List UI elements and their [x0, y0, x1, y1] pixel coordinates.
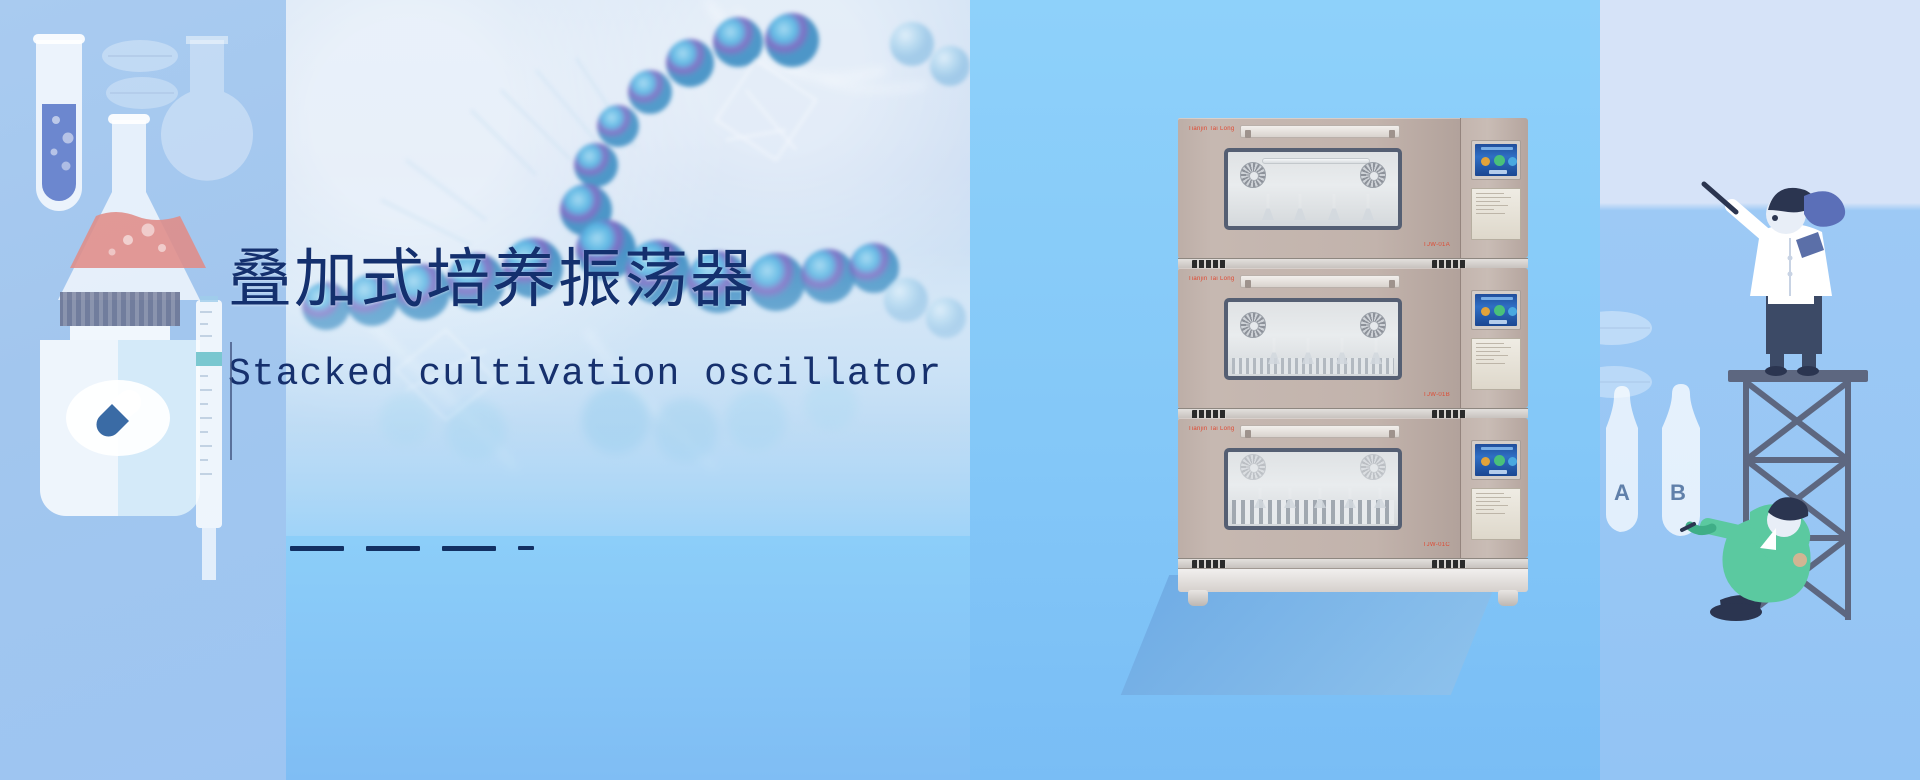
unit-body: Tianjin Tai Long TJW-01C [1178, 418, 1460, 558]
brand-label: Tianjin Tai Long [1188, 426, 1235, 432]
banner-title-block: 叠加式培养振荡器 Stacked cultivation oscillator [228, 246, 988, 396]
fan-icon [1240, 162, 1266, 188]
ampoule-a-icon: A [1606, 386, 1638, 532]
title-divider [230, 342, 232, 460]
shaker-unit-2[interactable]: Tianjin Tai Long TJW-01B [1178, 268, 1528, 416]
interior-light [1262, 158, 1370, 164]
spec-label [1471, 188, 1521, 240]
flask-icon [1344, 488, 1356, 508]
door-handle[interactable] [1240, 425, 1400, 438]
flask-clamp-row [1232, 358, 1394, 374]
fan-icon [1240, 312, 1266, 338]
flask-icon [1254, 488, 1266, 508]
shaker-unit-3[interactable]: Tianjin Tai Long TJW-01C [1178, 418, 1528, 566]
scientists-scaffold-illustration: A B [1600, 0, 1920, 780]
dash-mark [290, 546, 344, 551]
flask-icon [1284, 488, 1296, 508]
syringe-icon [196, 296, 222, 580]
leveling-foot [1188, 590, 1208, 606]
banner-stage: A B [0, 0, 1920, 780]
spec-label [1471, 488, 1521, 540]
model-label: TJW-01A [1423, 242, 1450, 248]
ampoule-label-a: A [1614, 480, 1630, 505]
door-handle[interactable] [1240, 275, 1400, 288]
brand-label: Tianjin Tai Long [1188, 276, 1235, 282]
flask-icon [1362, 194, 1374, 220]
page-subtitle: Stacked cultivation oscillator [228, 353, 988, 396]
door-handle[interactable] [1240, 125, 1400, 138]
flask-icon [1336, 338, 1348, 364]
viewing-window [1224, 148, 1402, 230]
medicine-bottle-icon [40, 292, 200, 516]
fan-icon [1360, 162, 1386, 188]
control-column [1460, 268, 1528, 408]
dash-mark [442, 546, 496, 551]
dash-mark [366, 546, 420, 551]
control-column [1460, 118, 1528, 258]
ampoule-label-b: B [1670, 480, 1686, 505]
touchscreen-display[interactable] [1471, 290, 1521, 330]
fan-icon [1360, 454, 1386, 480]
viewing-window [1224, 298, 1402, 380]
unit-body: Tianjin Tai Long TJW-01B [1178, 268, 1460, 408]
flask-icon [1374, 488, 1386, 508]
shaker-unit-1[interactable]: Tianjin Tai Long TJW-01A [1178, 118, 1528, 266]
viewing-window [1224, 448, 1402, 530]
ampoule-b-icon: B [1662, 384, 1700, 536]
test-tube-icon [33, 34, 85, 211]
unit-plinth [1178, 408, 1528, 418]
decorative-dashes [290, 546, 534, 551]
unit-plinth [1178, 558, 1528, 568]
dna-panel-lower-fill [286, 536, 970, 780]
spec-label [1471, 338, 1521, 390]
unit-plinth [1178, 258, 1528, 268]
leveling-foot [1498, 590, 1518, 606]
fan-icon [1240, 454, 1266, 480]
stacked-cultivation-oscillator: Tianjin Tai Long TJW-01A [1178, 118, 1528, 588]
flask-icon [1294, 194, 1306, 220]
machine-base [1178, 568, 1528, 606]
touchscreen-display[interactable] [1471, 440, 1521, 480]
fan-icon [1360, 312, 1386, 338]
dash-mark [518, 546, 534, 550]
brand-label: Tianjin Tai Long [1188, 126, 1235, 132]
unit-body: Tianjin Tai Long TJW-01A [1178, 118, 1460, 258]
flask-icon [1314, 488, 1326, 508]
flask-icon [1370, 338, 1382, 364]
page-title: 叠加式培养振荡器 [228, 246, 988, 313]
flask-icon [1262, 194, 1274, 220]
scientist-white-coat-icon [1704, 184, 1845, 376]
right-illustration-panel: A B [1600, 0, 1920, 780]
control-column [1460, 418, 1528, 558]
model-label: TJW-01B [1423, 392, 1450, 398]
flask-icon [1268, 338, 1280, 364]
model-label: TJW-01C [1423, 542, 1450, 548]
touchscreen-display[interactable] [1471, 140, 1521, 180]
flask-icon [1328, 194, 1340, 220]
flask-icon [1302, 338, 1314, 364]
